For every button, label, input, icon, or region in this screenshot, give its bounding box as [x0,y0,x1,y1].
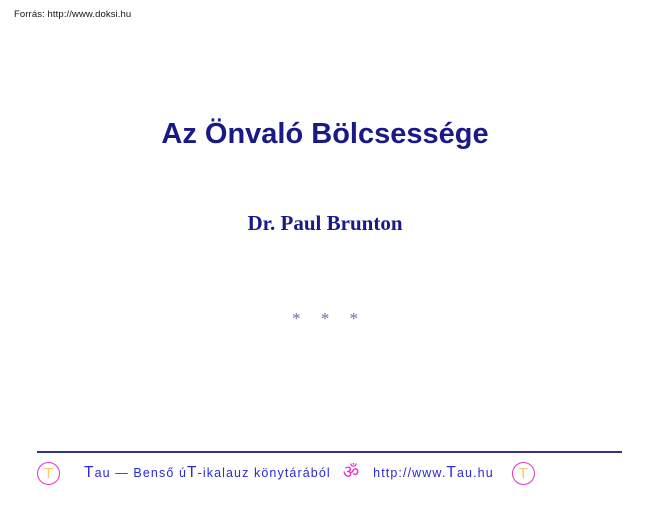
tau-logo-letter: T [513,463,534,484]
footer-website-link[interactable]: http://www.Tau.hu [373,465,494,481]
star-glyph-1: * [284,308,309,330]
star-glyph-3: * [342,308,367,330]
footer-bar: T Tau — Benső úT-ikalauz könytárából ॐ h… [37,458,622,488]
title-page: Forrás: http://www.doksi.hu Az Önvaló Bö… [0,0,650,519]
footer-url-tau-t: T [446,464,457,481]
tau-logo-icon-left[interactable]: T [37,462,60,485]
tau-logo-letter: T [38,463,59,484]
footer-url-prefix: http://www. [373,466,446,480]
footer-label-mid: au — Benső ú [95,466,187,480]
footer-label-tau-t: T [84,464,95,481]
footer-label-ut-t: T [187,464,198,481]
footer-library-label: Tau — Benső úT-ikalauz könytárából [84,465,331,481]
source-watermark: Forrás: http://www.doksi.hu [14,9,131,21]
star-divider: * * * [0,308,650,330]
tau-logo-icon-right[interactable]: T [512,462,535,485]
page-title: Az Önvaló Bölcsessége [0,116,650,152]
footer-divider-rule [37,451,622,453]
star-glyph-2: * [313,308,338,330]
om-symbol-icon: ॐ [343,464,359,482]
author-name: Dr. Paul Brunton [0,209,650,237]
footer-label-end: -ikalauz könytárából [198,466,331,480]
footer-url-suffix: au.hu [457,466,494,480]
